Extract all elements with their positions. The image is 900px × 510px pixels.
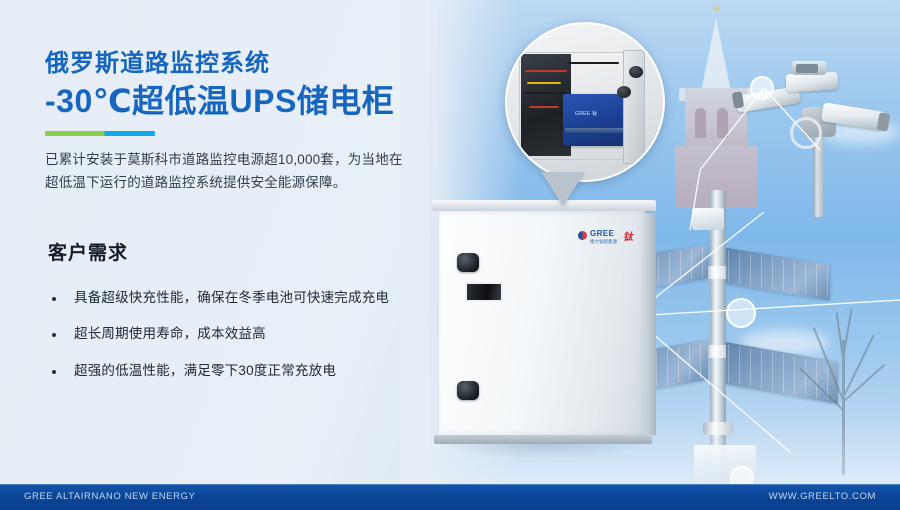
sensor-box (692, 208, 724, 230)
section-heading-needs: 客户需求 (48, 238, 128, 265)
page-title-line1: 俄罗斯道路监控系统 (45, 50, 465, 79)
headline-block: 俄罗斯道路监控系统 -30℃超低温UPS储电柜 已累计安装于莫斯科市道路监控电源… (45, 50, 465, 195)
gree-logo-ti-glyph: 钛 (623, 228, 633, 243)
camera-lens (796, 64, 818, 73)
ups-cabinet-product: GREE 钛 格力钛新能源 (432, 200, 656, 448)
list-item: 超长周期使用寿命，成本效益高 (48, 324, 448, 344)
cabinet-latch (457, 381, 479, 400)
inset-callout-pointer (541, 172, 585, 206)
battery-strap (565, 128, 627, 133)
cabinet-vent-window (465, 282, 503, 302)
solar-panel (726, 248, 830, 300)
battery-logo-label: GREE 钛 (575, 110, 597, 117)
lead-line-1: 已累计安装于莫斯科市道路监控电源超10,000套，为当地在 (45, 148, 465, 172)
needs-list: 具备超级快充性能，确保在冬季电池可快速完成充电 超长周期使用寿命，成本效益高 超… (48, 288, 448, 397)
inset-photo-frame: GREE 钛 (505, 22, 665, 182)
list-item-label: 超长周期使用寿命，成本效益高 (74, 324, 266, 344)
cabinet-interior-inset: GREE 钛 (505, 22, 665, 182)
list-item-label: 超强的低温性能，满足零下30度正常充放电 (74, 361, 336, 381)
footer-highlight-line (0, 484, 900, 485)
lead-line-2: 超低温下运行的道路监控系统提供安全能源保障。 (45, 171, 465, 195)
tower-arch (695, 108, 706, 138)
inset-door-knob (629, 66, 643, 78)
gree-logo: GREE 钛 格力钛新能源 (578, 229, 640, 247)
inset-battery-module: GREE 钛 (563, 94, 629, 146)
tower-spire (701, 18, 731, 92)
tower-arch (717, 108, 728, 138)
lead-paragraph: 已累计安装于莫斯科市道路监控电源超10,000套，为当地在 超低温下运行的道路监… (45, 148, 465, 195)
tower-star-icon (712, 4, 721, 13)
bullet-dot-icon (52, 370, 56, 374)
gree-logo-wordmark: GREE (590, 229, 614, 238)
page-title-line2: -30℃超低温UPS储电柜 (45, 81, 465, 121)
list-item-label: 具备超级快充性能，确保在冬季电池可快速完成充电 (74, 288, 389, 308)
cabinet-latch (457, 253, 479, 272)
bullet-dot-icon (52, 333, 56, 337)
cabinet-side (644, 213, 656, 435)
gree-logo-mark-icon (578, 231, 587, 240)
cctv-camera-cluster (740, 55, 900, 205)
gree-logo-subtext: 格力钛新能源 (590, 239, 617, 245)
bullet-dot-icon (52, 297, 56, 301)
slide-canvas: GREE 钛 格力钛新能源 GREE 钛 (0, 0, 900, 510)
list-item: 具备超级快充性能，确保在冬季电池可快速完成充电 (48, 288, 448, 308)
title-divider-rule (45, 131, 155, 136)
camera-lens (877, 112, 891, 131)
cabinet-shadow (442, 443, 650, 459)
footer-company-name: GREE ALTAIRNANO NEW ENERGY (24, 491, 196, 502)
inset-door-knob (617, 86, 631, 98)
camera-ring-node (790, 117, 822, 149)
footer-bar: GREE ALTAIRNANO NEW ENERGY WWW.GREELTO.C… (0, 484, 900, 510)
list-item: 超强的低温性能，满足零下30度正常充放电 (48, 361, 448, 381)
footer-website[interactable]: WWW.GREELTO.COM (769, 491, 876, 502)
cabinet-door: GREE 钛 格力钛新能源 (438, 211, 645, 435)
